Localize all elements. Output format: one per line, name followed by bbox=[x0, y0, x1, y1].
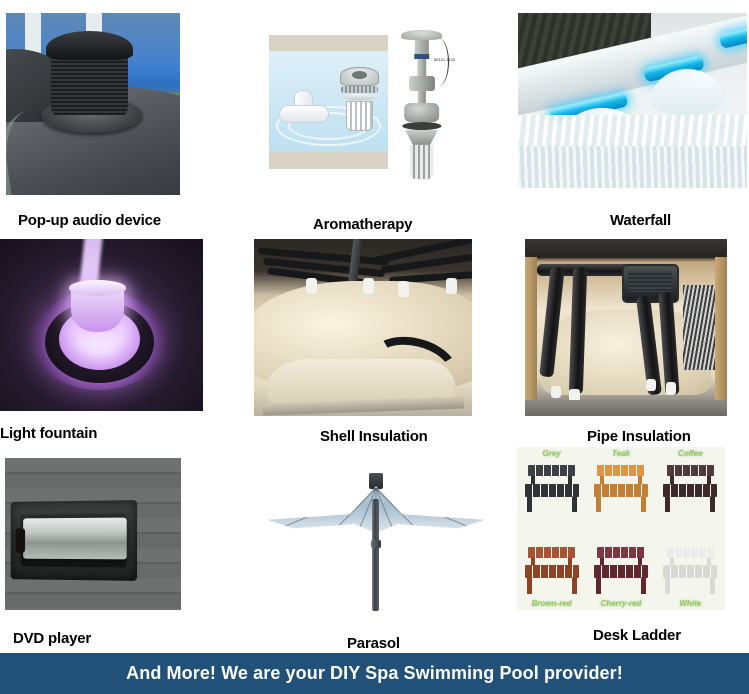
desk-ladder-color-label: Teak bbox=[586, 449, 655, 458]
desk-ladder-image: GreyTeakCoffeeBrown-redCherry-redWhite bbox=[517, 447, 725, 610]
light-fountain-image bbox=[0, 239, 203, 411]
desk-ladder-lower-tread bbox=[663, 484, 717, 497]
desk-ladder-lower-tread bbox=[525, 565, 579, 578]
aromatherapy-illustration: 50101-1120 bbox=[269, 25, 455, 185]
parasol-rib bbox=[376, 488, 420, 593]
desk-ladder-leg bbox=[527, 577, 532, 594]
feature-cell-parasol: Parasol bbox=[250, 445, 500, 653]
feature-cell-dvd-player: DVD player bbox=[0, 445, 250, 653]
parasol-rib bbox=[332, 488, 376, 593]
feature-grid: Pop-up audio device bbox=[0, 0, 749, 653]
pop-up-audio-device-image bbox=[6, 13, 180, 195]
promo-banner-text: And More! We are your DIY Spa Swimming P… bbox=[126, 663, 623, 684]
desk-ladder-lower-tread bbox=[594, 565, 648, 578]
desk-ladder-leg bbox=[710, 577, 715, 594]
shell-insulation-image bbox=[254, 239, 472, 416]
desk-ladder-leg bbox=[710, 496, 715, 513]
feature-cell-waterfall: Waterfall bbox=[500, 0, 749, 235]
parasol-image bbox=[258, 454, 494, 614]
feature-cell-shell-insulation: Shell Insulation bbox=[250, 235, 500, 445]
parasol-rib bbox=[376, 488, 457, 569]
desk-ladder-option: Brown-red bbox=[517, 529, 586, 611]
desk-ladder-upper-tread bbox=[597, 465, 645, 476]
desk-ladder-step bbox=[594, 463, 648, 512]
feature-caption: Desk Ladder bbox=[593, 627, 749, 644]
desk-ladder-step bbox=[594, 545, 648, 594]
desk-ladder-color-label: Brown-red bbox=[517, 599, 586, 608]
desk-ladder-color-label: White bbox=[656, 599, 725, 608]
desk-ladder-color-label: Cherry-red bbox=[586, 599, 655, 608]
shell-insulation-illustration bbox=[254, 239, 472, 416]
desk-ladder-upper-tread bbox=[667, 547, 715, 558]
waterfall-illustration bbox=[518, 13, 747, 188]
desk-ladder-step bbox=[525, 463, 579, 512]
desk-ladder-leg bbox=[665, 577, 670, 594]
desk-ladder-leg bbox=[665, 496, 670, 513]
desk-ladder-color-label: Grey bbox=[517, 449, 586, 458]
aromatherapy-dimension-label: 50101-1120 bbox=[434, 57, 455, 62]
desk-ladder-leg bbox=[641, 496, 646, 513]
desk-ladder-lower-tread bbox=[525, 484, 579, 497]
parasol-rib bbox=[296, 488, 377, 569]
feature-caption: Parasol bbox=[347, 635, 500, 652]
parasol-rib bbox=[263, 488, 376, 489]
desk-ladder-upper-tread bbox=[528, 465, 576, 476]
desk-ladder-leg bbox=[527, 496, 532, 513]
desk-ladder-lower-tread bbox=[594, 484, 648, 497]
light-fountain-illustration bbox=[0, 239, 203, 411]
pipe-insulation-illustration bbox=[525, 239, 727, 416]
feature-cell-aromatherapy: 50101-1120 Aromatherapy bbox=[250, 0, 500, 235]
desk-ladder-upper-tread bbox=[528, 547, 576, 558]
pipe-insulation-image bbox=[525, 239, 727, 416]
waterfall-image bbox=[518, 13, 747, 188]
desk-ladder-step bbox=[525, 545, 579, 594]
desk-ladder-color-options: GreyTeakCoffeeBrown-redCherry-redWhite bbox=[517, 447, 725, 610]
feature-cell-light-fountain: Light fountain bbox=[0, 235, 250, 445]
desk-ladder-option: Cherry-red bbox=[586, 529, 655, 611]
feature-caption: Pop-up audio device bbox=[18, 212, 250, 229]
desk-ladder-upper-tread bbox=[667, 465, 715, 476]
desk-ladder-leg bbox=[572, 577, 577, 594]
promo-banner: And More! We are your DIY Spa Swimming P… bbox=[0, 653, 749, 694]
desk-ladder-lower-tread bbox=[663, 565, 717, 578]
desk-ladder-leg bbox=[596, 577, 601, 594]
feature-cell-pipe-insulation: Pipe Insulation bbox=[500, 235, 749, 445]
feature-caption: Waterfall bbox=[610, 212, 749, 229]
desk-ladder-color-label: Coffee bbox=[656, 449, 725, 458]
dvd-player-illustration bbox=[5, 458, 181, 610]
pop-up-audio-device-illustration bbox=[6, 13, 180, 195]
feature-caption: Aromatherapy bbox=[313, 216, 500, 233]
feature-caption: Pipe Insulation bbox=[587, 428, 749, 445]
parasol-rib bbox=[376, 488, 489, 489]
feature-caption: Light fountain bbox=[0, 425, 250, 442]
desk-ladder-leg bbox=[596, 496, 601, 513]
desk-ladder-option: Teak bbox=[586, 447, 655, 529]
desk-ladder-leg bbox=[572, 496, 577, 513]
desk-ladder-option: White bbox=[656, 529, 725, 611]
desk-ladder-step bbox=[663, 545, 717, 594]
feature-caption: DVD player bbox=[13, 630, 250, 647]
feature-cell-desk-ladder: GreyTeakCoffeeBrown-redCherry-redWhite D… bbox=[500, 445, 749, 653]
parasol-illustration bbox=[258, 454, 494, 614]
feature-caption: Shell Insulation bbox=[320, 428, 500, 445]
desk-ladder-option: Coffee bbox=[656, 447, 725, 529]
dvd-player-image bbox=[5, 458, 181, 610]
desk-ladder-option: Grey bbox=[517, 447, 586, 529]
feature-cell-pop-up-audio-device: Pop-up audio device bbox=[0, 0, 250, 235]
desk-ladder-step bbox=[663, 463, 717, 512]
desk-ladder-upper-tread bbox=[597, 547, 645, 558]
aromatherapy-image: 50101-1120 bbox=[269, 25, 455, 185]
desk-ladder-leg bbox=[641, 577, 646, 594]
